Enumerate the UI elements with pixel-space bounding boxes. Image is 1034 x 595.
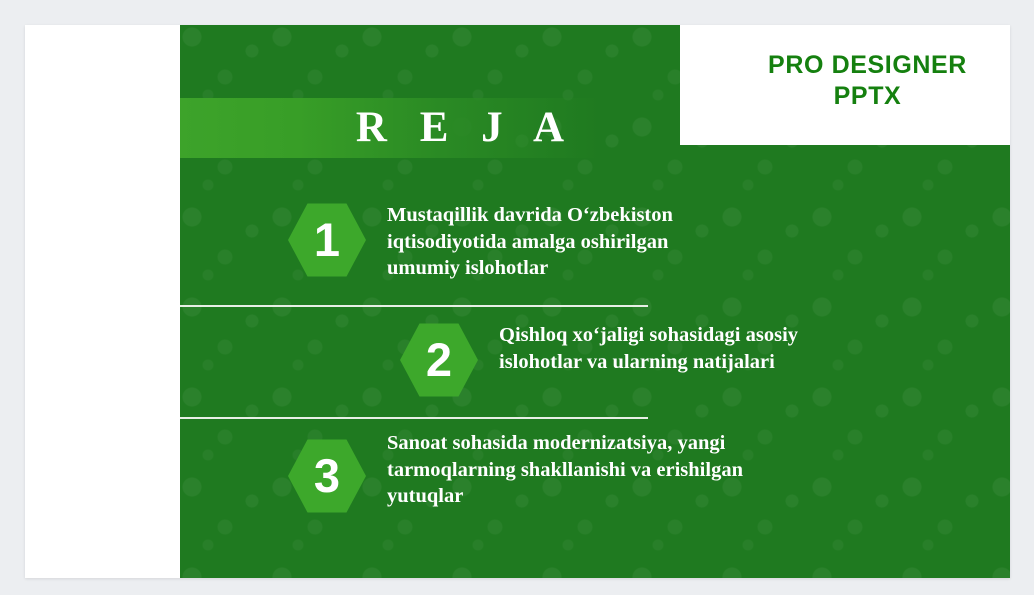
page-canvas: R E J A PRO DESIGNER PPTX 1 Mustaqillik … (0, 0, 1034, 595)
presentation-slide: R E J A PRO DESIGNER PPTX 1 Mustaqillik … (25, 25, 1010, 578)
item-text-2: Qishloq xo‘jaligi sohasidagi asosiy islo… (499, 322, 819, 375)
page-title: R E J A (180, 98, 740, 158)
divider-2 (180, 417, 648, 419)
brand-line-2: PPTX (725, 81, 1010, 112)
item-text-1: Mustaqillik davrida O‘zbekiston iqtisodi… (387, 202, 732, 282)
divider-1 (180, 305, 648, 307)
brand-watermark: PRO DESIGNER PPTX (725, 50, 1010, 112)
brand-line-1: PRO DESIGNER (725, 50, 1010, 81)
item-text-3: Sanoat sohasida modernizatsiya, yangi ta… (387, 430, 752, 510)
